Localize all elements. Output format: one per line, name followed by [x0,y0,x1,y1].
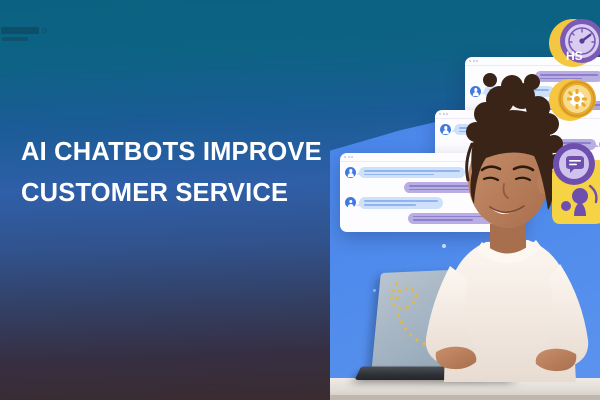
hero-banner: AI CHATBOTS IMPROVE CUSTOMER SERVICE [0,0,600,400]
logo-wordmark-bottom [2,37,28,41]
illustration-composite: HS [330,0,600,400]
window-dot-icon [344,156,346,158]
gear-badge [546,72,600,128]
desk-edge [330,395,600,400]
page-title: AI CHATBOTS IMPROVE CUSTOMER SERVICE [21,132,361,214]
headline-line-1: AI CHATBOTS IMPROVE [21,132,361,173]
logo-mark-icon [42,28,47,33]
text-line [364,204,416,206]
badge-label: HS [566,49,583,63]
brand-watermark-logo [1,27,47,47]
window-dot-icon [348,156,350,158]
avatar [345,197,356,208]
avatar [345,167,356,178]
logo-wordmark-top [1,27,39,34]
headline-line-2: CUSTOMER SERVICE [21,173,361,214]
chat-bubble-badge [540,140,600,224]
window-dot-icon [351,156,353,158]
speedometer-badge: HS [546,12,600,74]
